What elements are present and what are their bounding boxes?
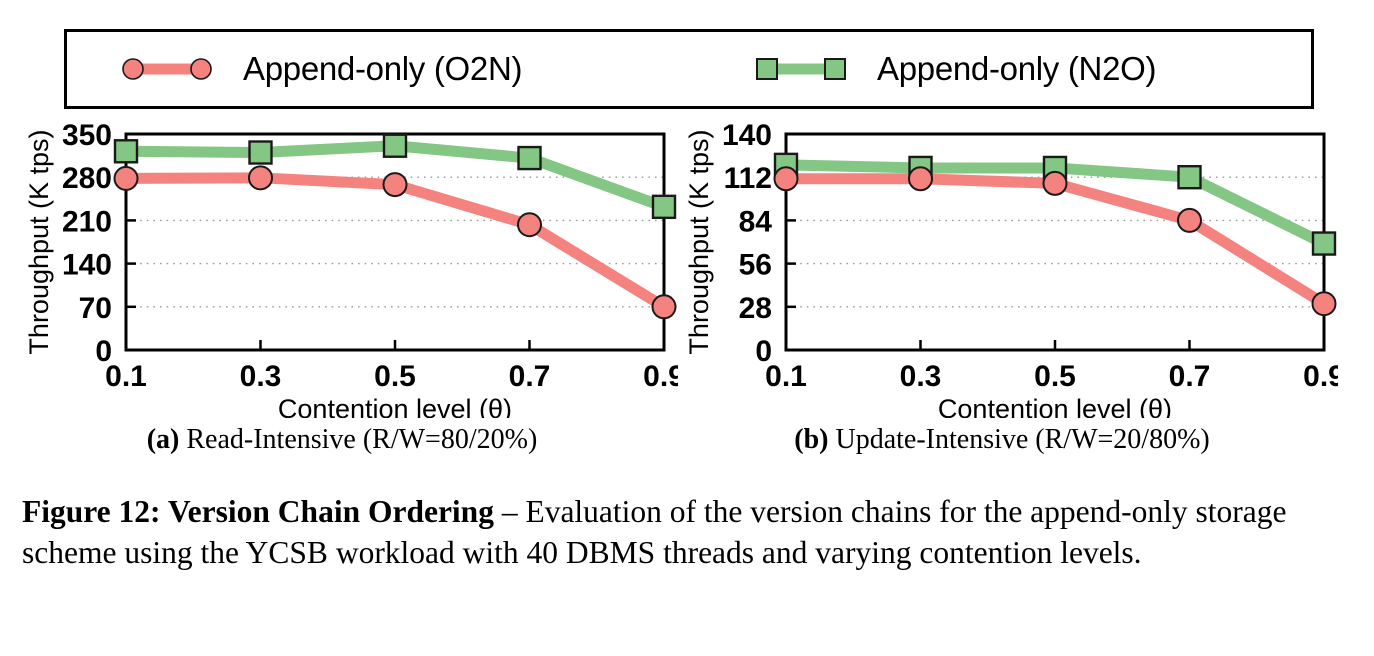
y-tick-label: 140: [722, 119, 772, 152]
y-tick-label: 70: [79, 292, 112, 325]
figure-caption-lead: Figure 12: Version Chain Ordering: [22, 494, 494, 529]
data-point-circle: [1178, 209, 1201, 232]
data-point-circle: [115, 167, 138, 190]
chart-canvas-update-intensive: 02856841121400.10.30.50.70.9Contention l…: [678, 118, 1338, 418]
x-tick-label: 0.9: [643, 360, 678, 393]
data-point-circle: [518, 213, 541, 236]
data-point-circle: [249, 166, 272, 189]
figure-12: Append-only (O2N) Append-only (N2O) 0701…: [0, 0, 1374, 656]
legend-marker-circle-o2n: [115, 54, 219, 84]
series-line-circle: [786, 179, 1324, 304]
chart-update-intensive: 02856841121400.10.30.50.70.9Contention l…: [678, 118, 1338, 423]
subcaption-b-tag: (b): [794, 424, 828, 455]
data-point-square: [1179, 166, 1201, 188]
y-tick-label: 350: [62, 119, 112, 152]
y-tick-label: 280: [62, 162, 112, 195]
chart-read-intensive: 0701402102803500.10.30.50.70.9Contention…: [18, 118, 678, 423]
y-axis-label: Throughput (K tps): [24, 129, 54, 354]
data-point-circle: [653, 295, 676, 318]
data-point-circle: [775, 167, 798, 190]
y-tick-label: 56: [739, 249, 772, 282]
data-point-circle: [384, 173, 407, 196]
x-axis-label: Contention level (θ): [938, 394, 1172, 418]
x-tick-label: 0.5: [1034, 360, 1076, 393]
legend-label-o2n: Append-only (O2N): [243, 50, 522, 88]
chart-legend: Append-only (O2N) Append-only (N2O): [64, 29, 1314, 109]
data-point-circle: [1313, 292, 1336, 315]
y-tick-label: 28: [739, 292, 772, 325]
plot-frame: [126, 134, 664, 350]
data-point-circle: [909, 167, 932, 190]
subcaption-a: (a) Read-Intensive (R/W=80/20%): [12, 424, 672, 456]
x-tick-label: 0.1: [765, 360, 807, 393]
data-point-square: [653, 196, 675, 218]
x-tick-label: 0.7: [1169, 360, 1211, 393]
data-point-square: [384, 135, 406, 157]
y-tick-label: 210: [62, 205, 112, 238]
legend-label-n2o: Append-only (N2O): [877, 50, 1156, 88]
data-point-square: [519, 147, 541, 169]
x-tick-label: 0.5: [374, 360, 416, 393]
data-point-square: [1313, 233, 1335, 255]
chart-canvas-read-intensive: 0701402102803500.10.30.50.70.9Contention…: [18, 118, 678, 418]
x-tick-label: 0.3: [240, 360, 282, 393]
x-tick-label: 0.1: [105, 360, 147, 393]
subcaption-a-text: Read-Intensive (R/W=80/20%): [179, 424, 537, 455]
legend-entry-n2o: Append-only (N2O): [677, 50, 1311, 88]
data-point-square: [115, 140, 137, 162]
subcaption-b-text: Update-Intensive (R/W=20/80%): [828, 424, 1209, 455]
subcaption-b: (b) Update-Intensive (R/W=20/80%): [672, 424, 1332, 456]
series-line-circle: [126, 178, 664, 307]
legend-marker-square-n2o: [749, 54, 853, 84]
x-tick-label: 0.7: [509, 360, 551, 393]
figure-caption: Figure 12: Version Chain Ordering – Eval…: [22, 492, 1352, 574]
y-tick-label: 84: [739, 205, 773, 238]
legend-entry-o2n: Append-only (O2N): [67, 50, 677, 88]
y-tick-label: 140: [62, 249, 112, 282]
subcaption-a-tag: (a): [147, 424, 180, 455]
y-tick-label: 112: [724, 162, 772, 195]
data-point-circle: [1044, 172, 1067, 195]
x-axis-label: Contention level (θ): [278, 394, 512, 418]
x-tick-label: 0.3: [900, 360, 942, 393]
x-tick-label: 0.9: [1303, 360, 1338, 393]
data-point-square: [250, 142, 272, 164]
y-axis-label: Throughput (K tps): [684, 129, 714, 354]
